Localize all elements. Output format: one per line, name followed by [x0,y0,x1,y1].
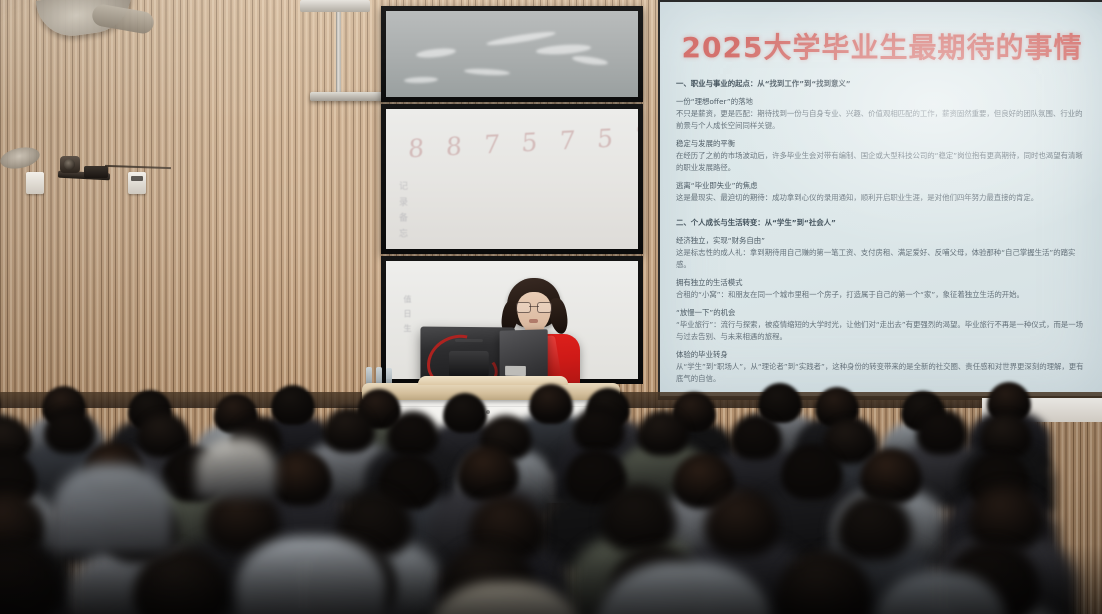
whiteboard-side-note-upper: 记 录 备 忘 [396,181,409,240]
audience-member-head [573,406,625,452]
wall-outlet-plate-icon[interactable] [26,172,44,194]
audience-member-head [443,393,487,433]
audience [0,386,1102,614]
slide-paragraph: 这是标志性的成人礼：拿到期待用自己赚的第一笔工资、支付房租、满足爱好、反哺父母，… [676,247,1088,271]
audience-member-head [323,407,375,453]
projection-screen: 2025大学毕业生最期待的事情 一、职业与事业的起点：从“找到工作”到“找到意义… [660,2,1102,396]
slide-section-heading: 一、职业与事业的起点：从“找到工作”到“找到意义” [676,78,1088,90]
audience-member-head [916,409,968,455]
presentation-slide: 2025大学毕业生最期待的事情 一、职业与事业的起点：从“找到工作”到“找到意义… [660,2,1102,396]
audience-member-head [637,410,689,456]
slide-section-heading: 二、个人成长与生活转变：从“学生”到“社会人” [676,217,1088,229]
audience-member-head [730,414,782,460]
audience-member-head [387,411,439,457]
lecture-hall-photo: 8 8 7 5 7 5 7 3 记 录 备 忘 值 日 生 2025大学毕业生最… [0,0,1102,614]
presenter-mouth [529,319,538,323]
slide-paragraph: 在经历了之前的市场波动后，许多毕业生会对带有编制、国企或大型科技公司的“稳定”岗… [676,150,1088,174]
ceiling-rod-icon [336,0,341,96]
audience-member-body [196,438,276,498]
slide-subheading: 逃离“毕业即失业”的焦虑 [676,180,1088,192]
laptop-sticker [505,366,526,376]
upper-chalkboard [381,6,643,102]
whiteboard-side-note-lower: 值 日 生 [402,295,413,334]
slide-subheading: 拥有独立的生活模式 [676,277,1088,289]
whiteboard-surface: 8 8 7 5 7 5 7 3 记 录 备 忘 [386,109,638,249]
slide-paragraph: 合租的“小窝”：和朋友在同一个城市里租一个房子，打造属于自己的第一个“家”，象征… [676,289,1088,301]
slide-paragraph: 从“学生”到“职场人”，从“理论者”到“实践者”，这种身份的转变带来的是全新的社… [676,361,1088,385]
ceiling-rod-bracket-icon [310,92,388,101]
camera-lens-icon [64,159,75,170]
ptz-camera-icon [60,156,86,178]
slide-paragraph: “毕业旅行”：流行与探索，被疫情缩短的大学时光，让他们对“走出去”有更强烈的渴望… [676,319,1088,343]
chalkboard-surface [386,11,638,97]
whiteboard-with-handwriting: 8 8 7 5 7 5 7 3 记 录 备 忘 [381,104,643,254]
wall-switch-plate-icon[interactable] [128,172,146,194]
audience-member-head [529,384,573,424]
slide-title: 2025大学毕业生最期待的事情 [676,26,1088,66]
slide-body: 一、职业与事业的起点：从“找到工作”到“找到意义”一份“理想offer”的落地不… [676,78,1088,396]
eyeglasses-icon [516,302,552,311]
audience-member-head [271,385,315,425]
audience-member-head [44,408,96,454]
camera-plate [84,166,108,178]
slide-subheading: 稳定与发展的平衡 [676,138,1088,150]
slide-subheading: “放慢一下”的机会 [676,307,1088,319]
ceiling-mount-plate-icon [300,0,370,12]
audience-member-head [781,444,843,500]
slide-subheading: 体验的毕业转身 [676,349,1088,361]
whiteboard-handwriting: 8 8 7 5 7 5 7 3 [407,119,638,163]
audience-member-head [457,445,519,501]
slide-spacer [676,204,1088,210]
slide-subheading: 经济独立，实现“财务自由” [676,235,1088,247]
slide-paragraph: 不只是薪资，更是匹配：期待找到一份与自身专业、兴趣、价值观相匹配的工作，薪资固然… [676,108,1088,132]
audience-member-head [270,450,332,506]
slide-paragraph: 这是最现实、最迫切的期待：成功拿到心仪的录用通知，顺利开启职业生涯，是对他们四年… [676,192,1088,204]
audience-member-body [52,464,172,554]
slide-subheading: 一份“理想offer”的落地 [676,96,1088,108]
